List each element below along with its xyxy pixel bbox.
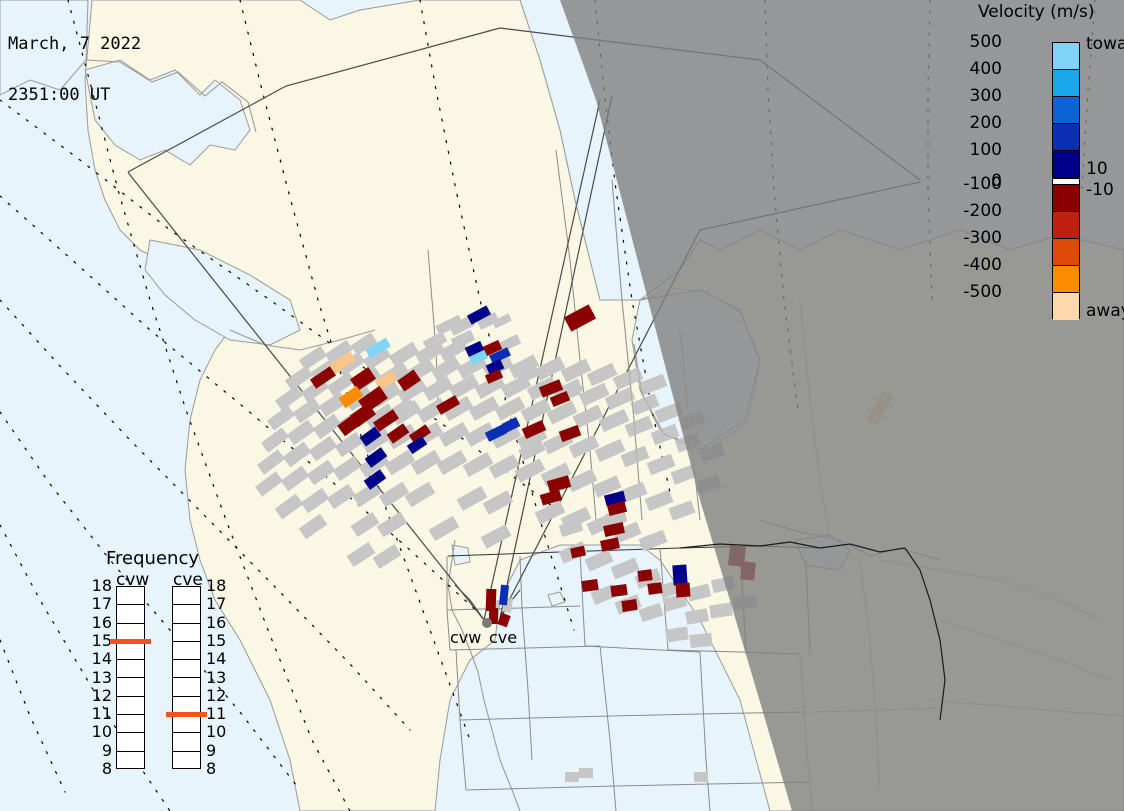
velocity-band-toward-3 [1053,124,1079,151]
frequency-cell-cve-9 [173,752,200,770]
frequency-cell-cve-5 [173,678,200,696]
frequency-cell-cvw-7 [117,715,144,733]
frequency-tick-cvw-10: 10 [86,724,112,740]
frequency-tick-cve-17: 17 [206,596,232,612]
velocity-band-away-2 [1053,239,1079,266]
frequency-tick-cve-9: 9 [206,743,232,759]
frequency-cell-cve-7 [173,715,200,733]
frequency-marker-cvw [110,639,151,644]
velocity-tick-neg300: -300 [963,230,1002,247]
velocity-band-away-0 [1053,185,1079,212]
radar-cell-49 [676,583,691,598]
velocity-away-label: away [1086,303,1124,320]
velocity-band-away-4 [1053,293,1079,320]
velocity-tick-neg100: -100 [963,176,1002,193]
frequency-bar-cvw [116,586,145,769]
map-site-label-cvw: cvw [450,630,481,646]
frequency-tick-cvw-11: 11 [86,706,112,722]
velocity-tick-neg400: -400 [963,257,1002,274]
frequency-cell-cvw-6 [117,697,144,715]
frequency-tick-cve-8: 8 [206,761,232,777]
frequency-cell-cvw-1 [117,605,144,623]
frequency-legend-panel: Frequency cvw cve 18171615141312111098 1… [84,548,254,798]
velocity-band-toward-4 [1053,151,1079,178]
velocity-tick-300: 300 [970,88,1002,105]
frequency-cell-cvw-5 [117,678,144,696]
frequency-cell-cve-1 [173,605,200,623]
velocity-colorbar-title: Velocity (m/s) [978,2,1095,22]
timestamp-block: March, 7 2022 2351:00 UT [8,2,141,138]
frequency-cell-cvw-3 [117,642,144,660]
frequency-tick-cve-16: 16 [206,615,232,631]
radar-cell-48 [672,565,687,586]
frequency-tick-cve-10: 10 [206,724,232,740]
radar-cell-44 [610,584,627,597]
velocity-band-deadband [1053,178,1079,185]
velocity-inner-high-label: 10 [1086,161,1108,178]
velocity-tick-400: 400 [970,61,1002,78]
velocity-tick-100: 100 [970,142,1002,159]
frequency-tick-cvw-15: 15 [86,633,112,649]
ground-scatter-cell-130 [689,633,712,648]
frequency-cell-cve-2 [173,624,200,642]
velocity-tick-200: 200 [970,115,1002,132]
velocity-colorbar-panel: Velocity (m/s) 5004003002001000-100-200-… [972,0,1124,340]
frequency-tick-cvw-14: 14 [86,651,112,667]
frequency-cell-cvw-9 [117,752,144,770]
frequency-tick-cvw-8: 8 [86,761,112,777]
radar-site-marker [482,618,492,628]
velocity-band-away-1 [1053,212,1079,239]
velocity-band-toward-2 [1053,97,1079,124]
frequency-cell-cve-4 [173,660,200,678]
velocity-band-toward-1 [1053,70,1079,97]
radar-map-screenshot: March, 7 2022 2351:00 UT cvw cve Velocit… [0,0,1124,811]
frequency-tick-cvw-17: 17 [86,596,112,612]
frequency-bar-cve [172,586,201,769]
radar-cell-53 [486,589,497,611]
ground-scatter-cell-145 [694,772,708,782]
velocity-band-toward-0 [1053,43,1079,70]
frequency-tick-cve-18: 18 [206,578,232,594]
frequency-marker-cve [166,712,207,717]
radar-cell-47 [647,582,662,595]
frequency-tick-cve-14: 14 [206,651,232,667]
frequency-tick-cve-11: 11 [206,706,232,722]
timestamp-time: 2351:00 UT [8,87,141,104]
frequency-tick-cve-13: 13 [206,670,232,686]
velocity-toward-label: toward [1086,36,1124,53]
frequency-cell-cve-8 [173,733,200,751]
velocity-colorbar-gradient [1052,42,1080,319]
velocity-inner-low-label: -10 [1086,182,1114,199]
frequency-tick-cvw-9: 9 [86,743,112,759]
frequency-cell-cve-0 [173,587,200,605]
velocity-tick-500: 500 [970,34,1002,51]
frequency-tick-cvw-12: 12 [86,688,112,704]
frequency-cell-cve-3 [173,642,200,660]
radar-cell-45 [621,599,637,612]
radar-cell-46 [637,569,652,582]
velocity-band-away-3 [1053,266,1079,293]
frequency-cell-cvw-4 [117,660,144,678]
velocity-tick-neg200: -200 [963,203,1002,220]
frequency-cell-cvw-8 [117,733,144,751]
frequency-tick-cvw-18: 18 [86,578,112,594]
frequency-cell-cvw-0 [117,587,144,605]
frequency-tick-cve-12: 12 [206,688,232,704]
radar-cell-43 [581,579,598,592]
ground-scatter-cell-144 [579,768,593,778]
frequency-legend-title: Frequency [106,548,199,569]
ground-scatter-cell-143 [565,772,579,782]
frequency-tick-cvw-13: 13 [86,670,112,686]
timestamp-date: March, 7 2022 [8,36,141,53]
velocity-tick-neg500: -500 [963,284,1002,301]
map-site-label-cve: cve [489,630,517,646]
frequency-tick-cvw-16: 16 [86,615,112,631]
frequency-tick-cve-15: 15 [206,633,232,649]
